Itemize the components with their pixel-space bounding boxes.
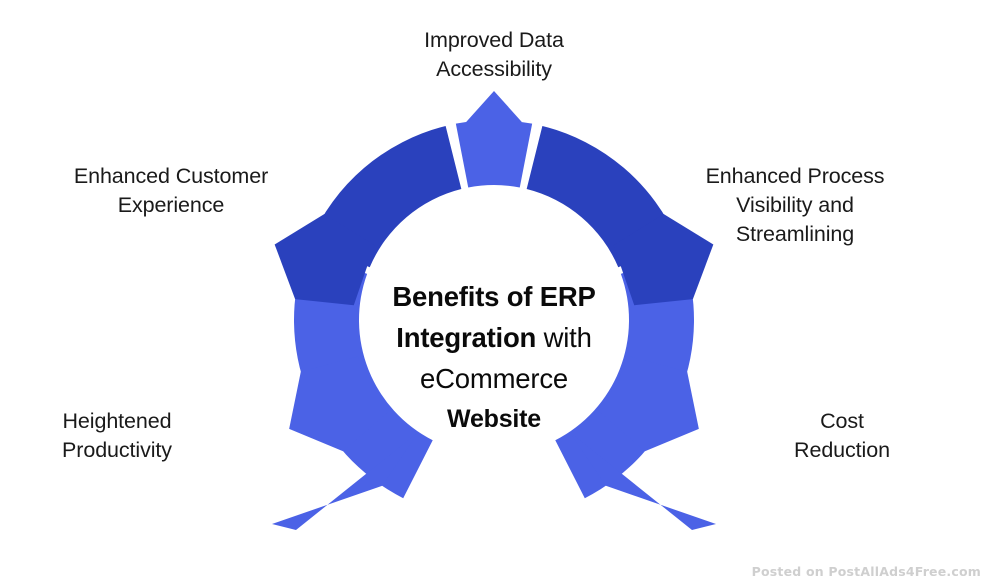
center-line-3: eCommerce — [420, 363, 568, 394]
center-line-1: Benefits of ERP — [392, 281, 595, 312]
infographic-canvas: Benefits of ERP Integration with eCommer… — [0, 0, 989, 583]
center-title: Benefits of ERP Integration with eCommer… — [344, 276, 644, 440]
center-line-2-bold: Integration — [396, 322, 536, 353]
label-enhanced-process-visibility: Enhanced Process Visibility and Streamli… — [690, 162, 900, 249]
center-line-4: Website — [344, 399, 644, 440]
label-improved-data-accessibility: Improved Data Accessibility — [354, 26, 634, 84]
watermark-text: Posted on PostAllAds4Free.com — [752, 564, 981, 579]
label-enhanced-customer-experience: Enhanced Customer Experience — [40, 162, 302, 220]
label-cost-reduction: Cost Reduction — [762, 407, 922, 465]
label-heightened-productivity: Heightened Productivity — [22, 407, 212, 465]
segment-improved-data-accessibility[interactable] — [456, 120, 532, 187]
center-line-2-regular: with — [536, 322, 592, 353]
